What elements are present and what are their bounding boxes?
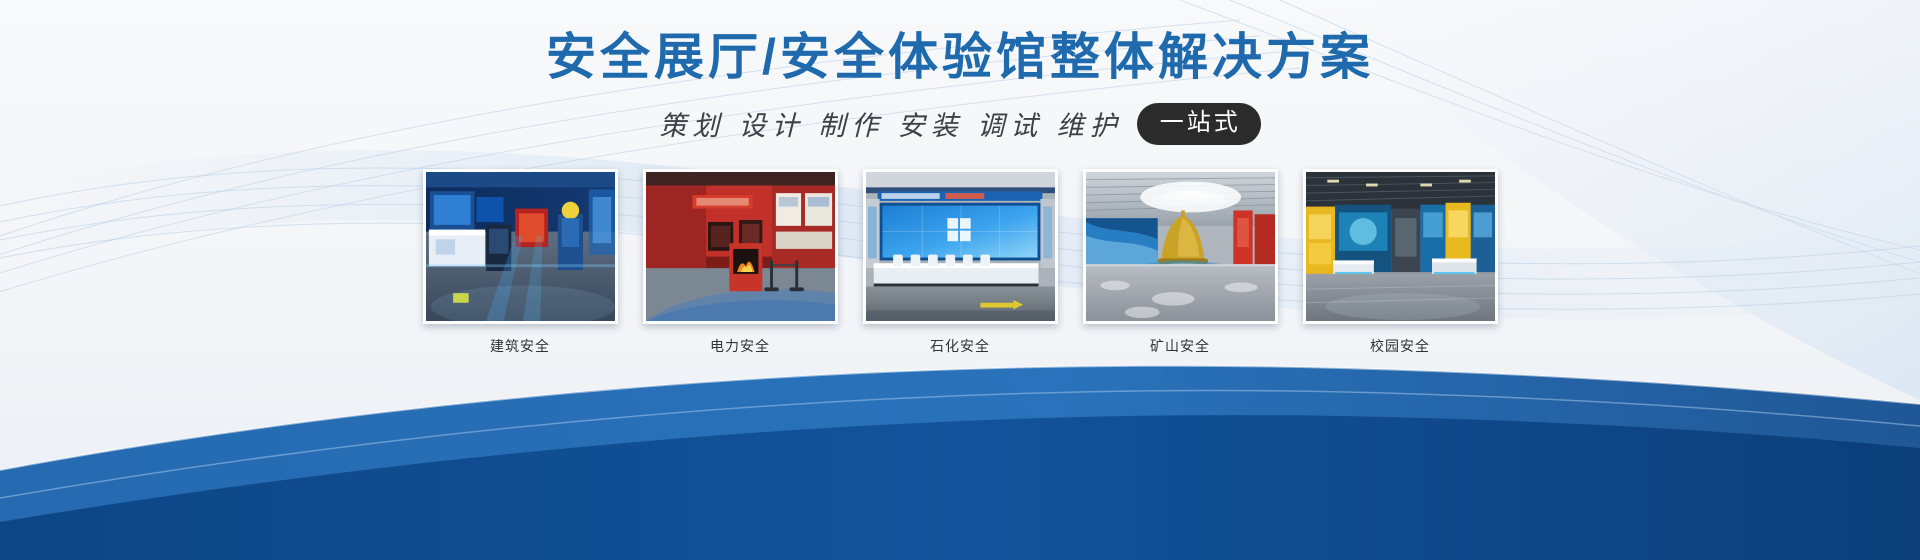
solution-card-caption: 矿山安全 xyxy=(1150,336,1210,356)
promo-banner: 安全展厅/安全体验馆整体解决方案 策划 设计 制作 安装 调试 维护 一站式 xyxy=(0,0,1920,560)
page-title: 安全展厅/安全体验馆整体解决方案 xyxy=(546,26,1374,89)
petrochemical-safety-exhibition-hall-photo[interactable] xyxy=(863,169,1058,324)
power-safety-exhibition-hall-photo[interactable] xyxy=(643,169,838,324)
campus-safety-exhibition-hall-photo[interactable] xyxy=(1303,169,1498,324)
service-steps: 策划 设计 制作 安装 调试 维护 一站式 xyxy=(659,103,1261,145)
solution-card-caption: 电力安全 xyxy=(710,336,770,356)
solution-card-caption: 建筑安全 xyxy=(490,336,550,356)
solution-card[interactable]: 矿山安全 xyxy=(1083,169,1278,356)
banner-content: 安全展厅/安全体验馆整体解决方案 策划 设计 制作 安装 调试 维护 一站式 xyxy=(0,0,1920,560)
solution-card[interactable]: 石化安全 xyxy=(863,169,1058,356)
construction-safety-exhibition-hall-photo[interactable] xyxy=(423,169,618,324)
solution-card[interactable]: 校园安全 xyxy=(1303,169,1498,356)
one-stop-badge: 一站式 xyxy=(1137,103,1261,145)
solution-card[interactable]: 建筑安全 xyxy=(423,169,618,356)
mining-safety-exhibition-hall-photo[interactable] xyxy=(1083,169,1278,324)
solution-card-caption: 校园安全 xyxy=(1370,336,1430,356)
solution-card[interactable]: 电力安全 xyxy=(643,169,838,356)
solution-card-caption: 石化安全 xyxy=(930,336,990,356)
service-steps-label: 策划 设计 制作 安装 调试 维护 xyxy=(659,104,1123,143)
solution-card-list: 建筑安全 xyxy=(423,169,1498,356)
